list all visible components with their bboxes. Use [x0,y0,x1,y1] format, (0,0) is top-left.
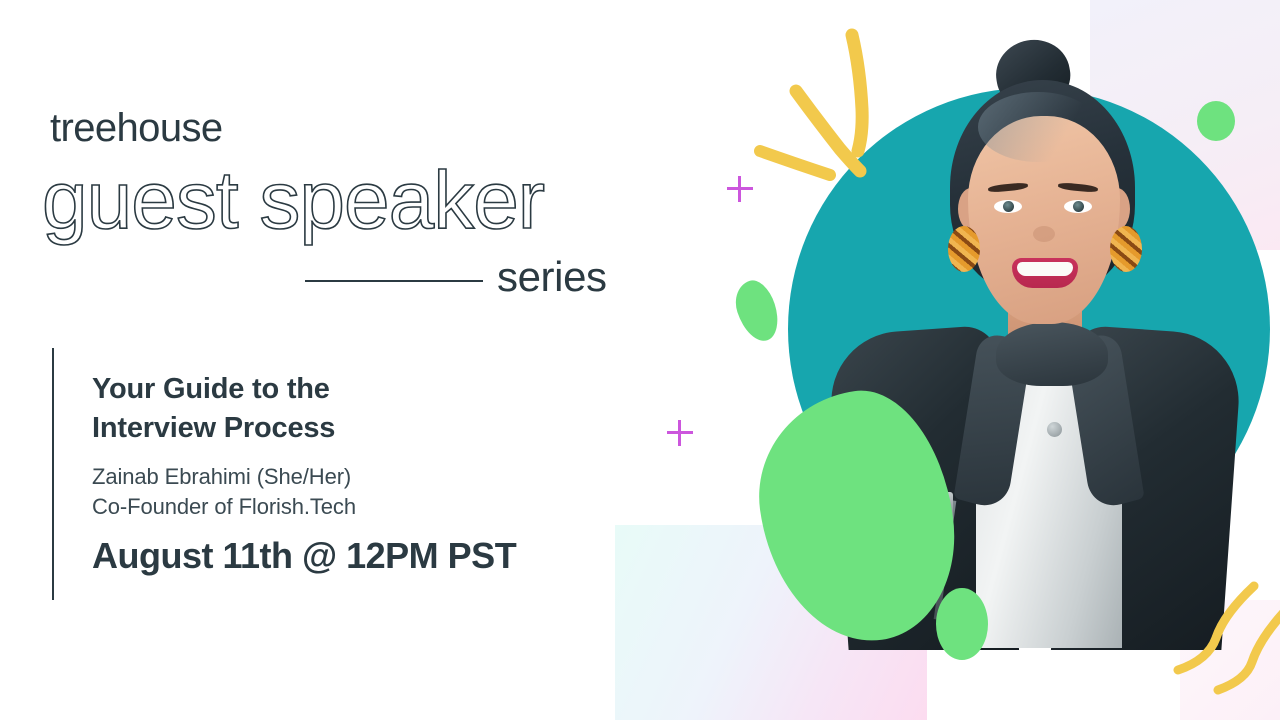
yellow-sparkle-strokes [740,25,910,185]
nose [1033,226,1055,242]
eye-right [1064,200,1092,213]
jacket-stud [1047,422,1062,437]
jacket-collar [996,322,1108,386]
green-blob-pebble [729,276,784,347]
series-word: series [497,256,607,298]
magenta-plus-icon-upper [727,176,753,202]
series-divider-rule [305,280,483,282]
talk-title-line-2: Interview Process [92,409,335,448]
mouth [1012,258,1078,288]
iris-left [1003,201,1014,212]
talk-title: Your Guide to the Interview Process [92,370,335,447]
iris-right [1073,201,1084,212]
brand-name: treehouse [50,108,223,148]
green-blob-round [936,588,988,660]
eye-left [994,200,1022,213]
left-accent-rule [52,348,54,600]
yellow-squiggle-lines [1150,580,1280,700]
magenta-plus-icon-lower [667,420,693,446]
guest-speaker-promo-slide: treehouse guest speaker series Your Guid… [0,0,1280,720]
teeth [1017,262,1073,276]
series-headline: guest speaker [42,160,544,242]
talk-title-line-1: Your Guide to the [92,370,335,409]
event-datetime: August 11th @ 12PM PST [92,536,516,576]
hair-highlight [978,92,1098,162]
earring-right [1110,226,1142,272]
speaker-name: Zainab Ebrahimi (She/Her) [92,462,356,492]
speaker-role: Co-Founder of Florish.Tech [92,492,356,522]
green-dot [1197,101,1235,141]
earring-left [948,226,980,272]
speaker-info: Zainab Ebrahimi (She/Her) Co-Founder of … [92,462,356,523]
